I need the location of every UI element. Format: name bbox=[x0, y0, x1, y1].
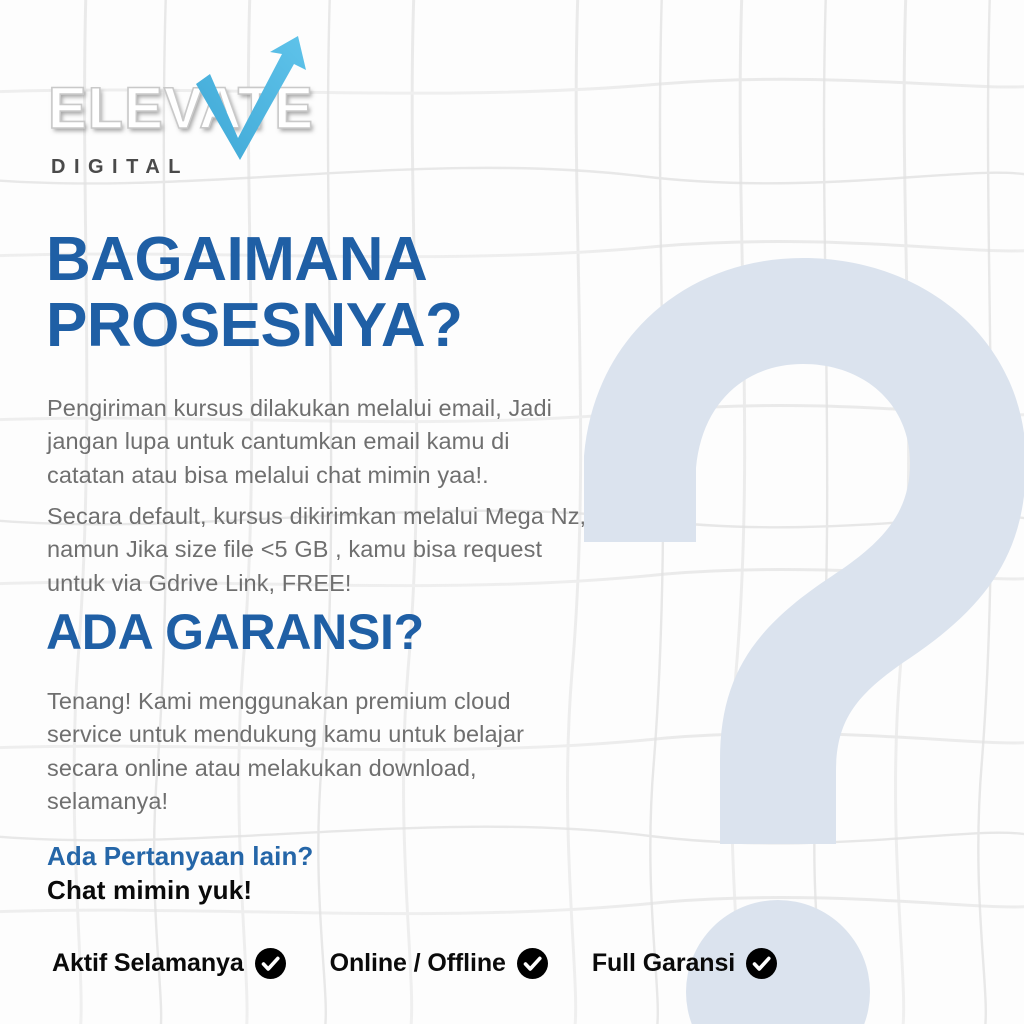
faq-poster: ELEVATE DIGITAL BAGAIMANA PROSESNYA? Pen… bbox=[0, 0, 1024, 1024]
paragraph-delivery: Pengiriman kursus dilakukan melalui emai… bbox=[47, 392, 607, 492]
badge-online-offline: Online / Offline bbox=[330, 948, 548, 979]
badge-label: Aktif Selamanya bbox=[52, 949, 244, 978]
paragraph-guarantee: Tenang! Kami menggunakan premium cloud s… bbox=[47, 685, 592, 818]
logo-mark: ELEVATE bbox=[48, 62, 338, 162]
feature-badge-row: Aktif Selamanya Online / Offline Full Ga… bbox=[52, 948, 972, 979]
check-circle-icon bbox=[746, 948, 777, 979]
badge-aktif-selamanya: Aktif Selamanya bbox=[52, 948, 286, 979]
check-circle-icon bbox=[255, 948, 286, 979]
check-circle-icon bbox=[517, 948, 548, 979]
badge-label: Online / Offline bbox=[330, 949, 506, 978]
badge-full-garansi: Full Garansi bbox=[592, 948, 777, 979]
badge-label: Full Garansi bbox=[592, 949, 735, 978]
cta-question-text: Ada Pertanyaan lain? bbox=[47, 841, 313, 872]
section-title-garansi: ADA GARANSI? bbox=[46, 607, 424, 657]
paragraph-storage: Secara default, kursus dikirimkan melalu… bbox=[47, 500, 632, 600]
cta-chat-label[interactable]: Chat mimin yuk! bbox=[47, 875, 252, 906]
brand-logo: ELEVATE DIGITAL bbox=[48, 62, 368, 179]
page-title: BAGAIMANA PROSESNYA? bbox=[46, 227, 463, 360]
upward-arrow-check-icon bbox=[194, 32, 314, 162]
